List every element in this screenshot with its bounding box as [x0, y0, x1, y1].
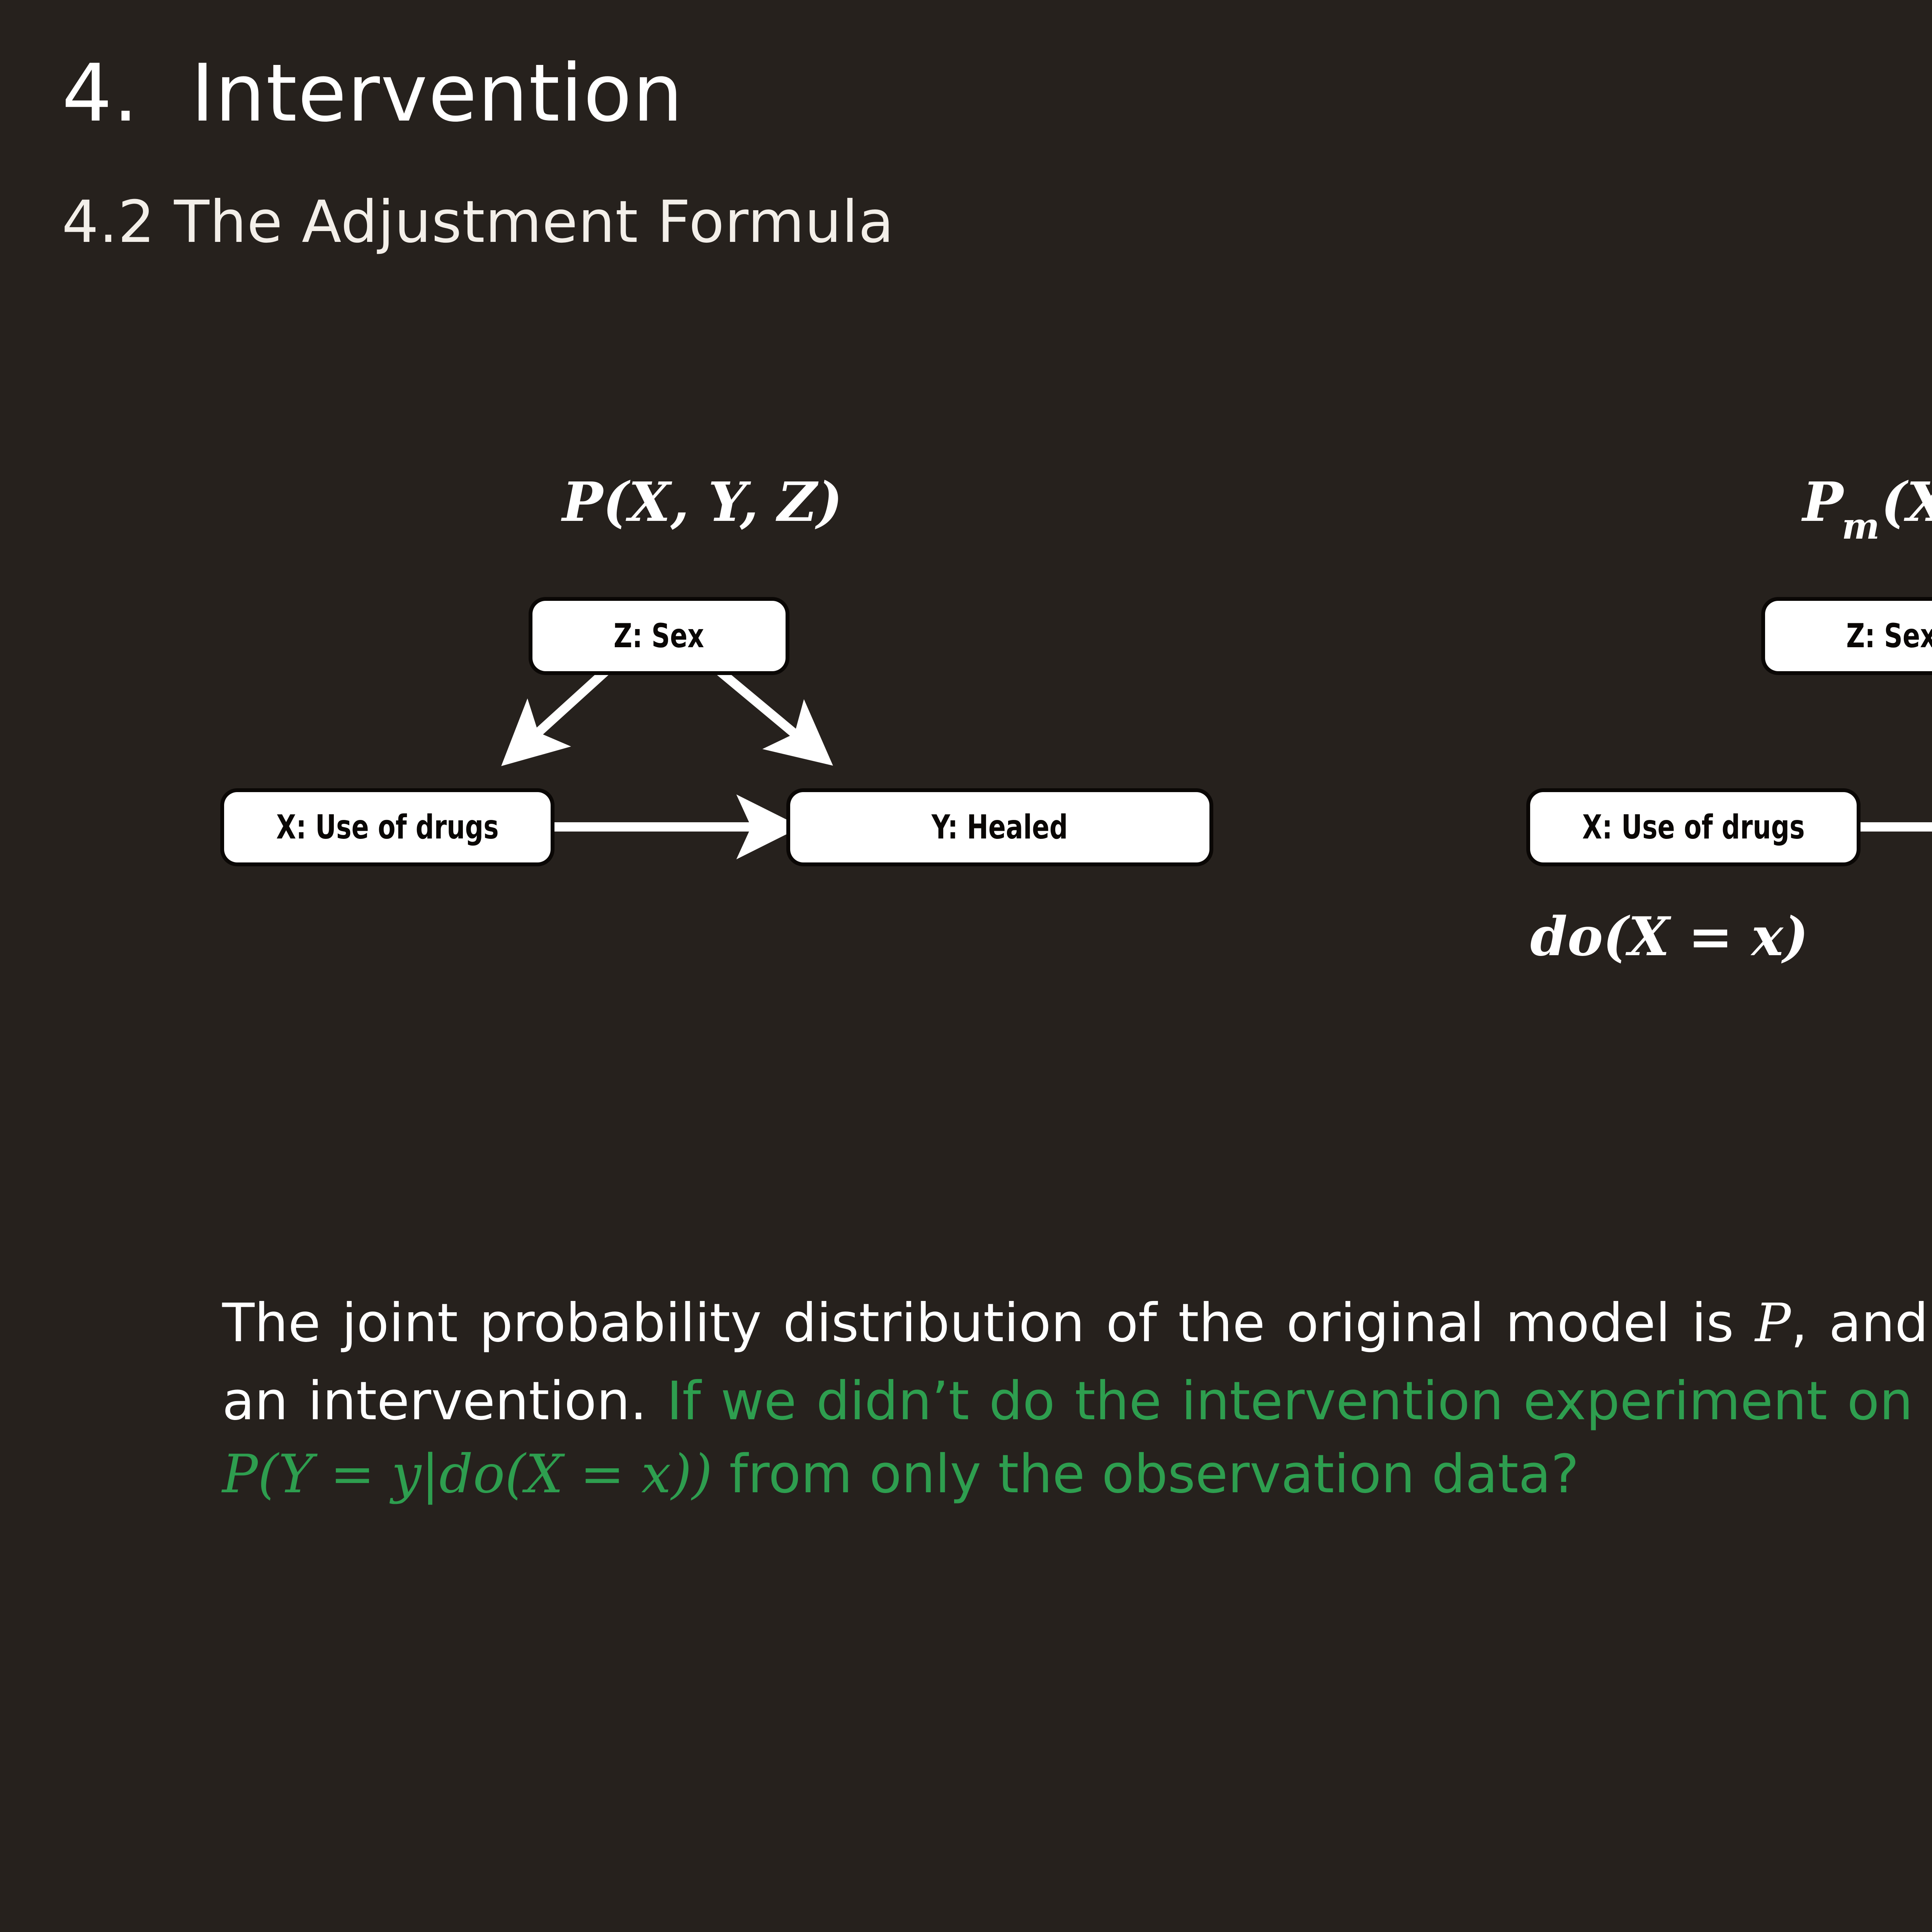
- math-symbol-p: P: [1755, 1293, 1791, 1354]
- math-expression-do: P(Y = y|do(X = x)): [222, 1444, 713, 1505]
- body-paragraph: The joint probability distribution of th…: [222, 1287, 1932, 1511]
- dist-pm-args: (X, Y, Z): [1881, 471, 1932, 534]
- body-green-1: If we didn’t do the intervention experim…: [667, 1371, 1932, 1432]
- page-title: 4. Intervention: [62, 54, 684, 133]
- node-label: Z: Sex: [1846, 617, 1932, 655]
- dist-p-base: P: [562, 471, 603, 534]
- page-subtitle: 4.2 The Adjustment Formula: [62, 193, 894, 251]
- node-z-sex[interactable]: Z: Sex: [1765, 601, 1932, 671]
- dist-p-args: (X, Y, Z): [603, 471, 842, 534]
- dist-pm-base: P: [1803, 471, 1843, 534]
- node-x-use-of-drugs[interactable]: X: Use of drugs: [1530, 792, 1857, 862]
- node-label: X: Use of drugs: [276, 808, 499, 847]
- observational-edges: [216, 475, 1360, 985]
- node-label: X: Use of drugs: [1582, 808, 1805, 847]
- do-operator-caption: do(X = x): [1530, 910, 1808, 963]
- node-y-healed[interactable]: Y: Healed: [790, 792, 1209, 862]
- node-label: Z: Sex: [614, 617, 704, 655]
- edge-z-to-y: [719, 670, 823, 757]
- node-x-use-of-drugs[interactable]: X: Use of drugs: [224, 792, 551, 862]
- body-white-1: The joint probability distribution of th…: [222, 1293, 1755, 1354]
- distribution-label-pm: Pm(X, Y, Z): [1803, 475, 1932, 537]
- interventional-edges: [1453, 475, 1932, 1094]
- body-white-2: , and it changes to: [1791, 1293, 1932, 1354]
- node-z-sex[interactable]: Z: Sex: [532, 601, 786, 671]
- slide-root: 4. Intervention 4.2 The Adjustment Formu…: [0, 0, 1932, 1932]
- dist-pm-sub: m: [1842, 505, 1880, 547]
- node-label: Y: Healed: [932, 808, 1068, 847]
- observational-graph: P(X, Y, Z) Z: Sex X: Use of drugs Y: Hea…: [216, 475, 1360, 985]
- distribution-label-p: P(X, Y, Z): [562, 475, 842, 529]
- edge-z-to-x: [511, 670, 607, 757]
- interventional-graph: Pm(X, Y, Z) Z: Sex X: Use of drugs Y: He…: [1453, 475, 1932, 1094]
- body-green-2: from only the observation data?: [713, 1444, 1579, 1505]
